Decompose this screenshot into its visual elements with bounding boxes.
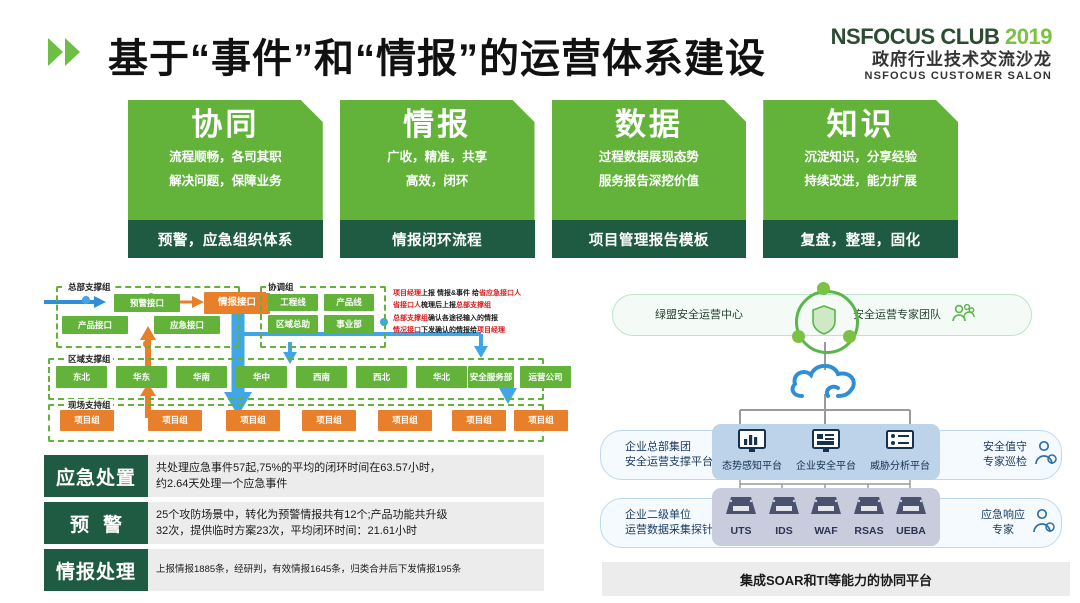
appliance-icon [852, 505, 886, 522]
platform-label: 态势感知平台 [714, 461, 790, 473]
org-box-region: 华北 [416, 366, 467, 388]
node-dot-top [817, 282, 830, 295]
annotation-red-c: 项目经理 [477, 327, 505, 334]
pillar-sub-2: 解决问题，保障业务 [128, 171, 323, 193]
pillar-sub-1: 流程顺畅，各司其职 [128, 147, 323, 169]
pillar-footer: 复盘，整理，固化 [763, 220, 958, 258]
pillar-card: 协同 流程顺畅，各司其职 解决问题，保障业务 预警，应急组织体系 [128, 100, 323, 258]
org-box-engineering-line: 工程线 [268, 294, 318, 311]
org-box-warning-interface: 预警接口 [114, 294, 180, 312]
stats-row-label: 预警 [44, 502, 148, 544]
org-box-product-line: 产品线 [324, 294, 374, 311]
org-annotation-line: 项目经理上报 情报&事件 给省应急接口人 [393, 288, 548, 300]
watch-label-line2: 专家巡检 [983, 455, 1027, 470]
response-label-line2: 专家 [981, 523, 1025, 538]
org-box-region: 华南 [176, 366, 227, 388]
nsfocus-logo: NSFOCUS CLUB 2019 政府行业技术交流沙龙 NSFOCUS CUS… [831, 26, 1052, 82]
org-box-region: 西南 [296, 366, 347, 388]
expert-team-label: 安全运营专家团队 [853, 308, 941, 323]
annotation-text-b: 梳理后上报 [421, 302, 456, 309]
pillar-heading: 协同 [128, 106, 323, 145]
watch-person-icon [1033, 440, 1057, 471]
watch-label: 安全值守 专家巡检 [983, 440, 1027, 470]
threat-analysis-icon [885, 441, 915, 458]
org-box-project-team: 项目组 [148, 410, 202, 431]
hq-platform-label-line2: 安全运营支撑平台 [625, 455, 713, 470]
stats-line: 上报情报1885条，经研判，有效情报1645条，归类合并后下发情报195条 [156, 563, 536, 577]
org-annotation-line: 省接口人梳理后上报总部支撑组 [393, 300, 548, 312]
org-annotation-line: 总部支撑组确认各途径输入的情报 [393, 313, 548, 325]
pillar-sub-1: 沉淀知识，分享经验 [763, 147, 958, 169]
cloud-icon [788, 360, 862, 407]
annotation-red-a: 总部支撑组 [393, 315, 428, 322]
hq-platform-label-line1: 企业总部集团 [625, 440, 713, 455]
stats-row-body: 25个攻防场景中，转化为预警情报共有12个;产品功能共升级 32次，提供临时方案… [148, 502, 544, 544]
hq-platform-label: 企业总部集团 安全运营支撑平台 [625, 440, 713, 470]
pillar-card-body: 情报 广收，精准，共享 高效，闭环 [340, 100, 535, 220]
stats-row: 情报处理 上报情报1885条，经研判，有效情报1645条，归类合并后下发情报19… [44, 549, 544, 591]
stats-line: 共处理应急事件57起,75%的平均的闭环时间在63.57小时， [156, 460, 536, 477]
org-box-business-unit: 事业部 [324, 315, 374, 334]
org-box-regional-assistant: 区域总助 [268, 315, 318, 334]
org-box-operations-company: 运营公司 [520, 366, 571, 388]
stats-row-label: 应急处置 [44, 455, 148, 497]
org-box-project-team: 项目组 [514, 410, 568, 431]
pillar-footer: 情报闭环流程 [340, 220, 535, 258]
architecture-footer-bar: 集成SOAR和TI等能力的协同平台 [602, 562, 1070, 596]
org-annotations: 项目经理上报 情报&事件 给省应急接口人 省接口人梳理后上报总部支撑组 总部支撑… [393, 288, 548, 338]
platform-item: 威胁分析平台 [862, 428, 938, 473]
stats-row-label: 情报处理 [44, 549, 148, 591]
device-item: UEBA [882, 494, 940, 537]
device-label: UEBA [882, 525, 940, 537]
pillar-card: 数据 过程数据展现态势 服务报告深挖价值 项目管理报告模板 [552, 100, 747, 258]
org-box-project-team: 项目组 [226, 410, 280, 431]
platform-label: 企业安全平台 [788, 461, 864, 473]
org-box-security-service-dept: 安全服务部 [468, 366, 514, 388]
hq-support-group-label: 总部支撑组 [66, 281, 113, 293]
stats-line: 约2.64天处理一个应急事件 [156, 476, 536, 493]
platform-item: 态势感知平台 [714, 428, 790, 473]
enterprise-security-icon [811, 441, 841, 458]
pillar-heading: 情报 [340, 106, 535, 145]
logo-subtitle-en: NSFOCUS CUSTOMER SALON [831, 71, 1052, 82]
annotation-red-a: 项目经理 [393, 290, 421, 297]
appliance-icon [809, 505, 843, 522]
pillar-footer: 项目管理报告模板 [552, 220, 747, 258]
platform-label: 威胁分析平台 [862, 461, 938, 473]
region-support-group-label: 区域支撑组 [66, 353, 113, 365]
architecture-diagram: 绿盟安全运营中心 安全运营专家团队 [590, 282, 1070, 552]
node-dot-left [792, 330, 805, 343]
double-chevron-icon [48, 38, 80, 66]
shield-icon [811, 305, 837, 335]
expert-team-icon [951, 303, 975, 328]
org-box-emergency-interface: 应急接口 [154, 316, 220, 334]
pillar-heading: 知识 [763, 106, 958, 145]
branch-label: 企业二级单位 运营数据采集探针 [625, 508, 713, 538]
logo-year-text: 2019 [1005, 24, 1052, 49]
pillar-sub-2: 持续改进，能力扩展 [763, 171, 958, 193]
pillar-card-body: 数据 过程数据展现态势 服务报告深挖价值 [552, 100, 747, 220]
appliance-icon [724, 505, 758, 522]
pillar-card-body: 知识 沉淀知识，分享经验 持续改进，能力扩展 [763, 100, 958, 220]
annotation-red-c: 省应急接口人 [479, 290, 521, 297]
appliance-icon [767, 505, 801, 522]
stats-table: 应急处置 共处理应急事件57起,75%的平均的闭环时间在63.57小时， 约2.… [44, 455, 544, 596]
org-box-region: 华中 [236, 366, 287, 388]
response-label: 应急响应 专家 [981, 508, 1025, 538]
annotation-text-b: 上报 情报&事件 给 [421, 290, 479, 297]
org-box-project-team: 项目组 [60, 410, 114, 431]
stats-row-body: 上报情报1885条，经研判，有效情报1645条，归类合并后下发情报195条 [148, 549, 544, 591]
org-box-region: 西北 [356, 366, 407, 388]
pillar-sub-2: 高效，闭环 [340, 171, 535, 193]
stats-row: 预警 25个攻防场景中，转化为预警情报共有12个;产品功能共升级 32次，提供临… [44, 502, 544, 544]
pillar-footer: 预警，应急组织体系 [128, 220, 323, 258]
stats-row-body: 共处理应急事件57起,75%的平均的闭环时间在63.57小时， 约2.64天处理… [148, 455, 544, 497]
org-box-project-team: 项目组 [302, 410, 356, 431]
pillar-card: 知识 沉淀知识，分享经验 持续改进，能力扩展 复盘，整理，固化 [763, 100, 958, 258]
node-dot-right [843, 330, 856, 343]
coordination-group-label: 协调组 [266, 281, 296, 293]
stats-line: 25个攻防场景中，转化为预警情报共有12个;产品功能共升级 [156, 507, 536, 524]
pillar-sub-1: 过程数据展现态势 [552, 147, 747, 169]
situational-awareness-icon [737, 441, 767, 458]
branch-label-line1: 企业二级单位 [625, 508, 713, 523]
annotation-text-b: 下发确认的情报给 [421, 327, 477, 334]
stats-row: 应急处置 共处理应急事件57起,75%的平均的闭环时间在63.57小时， 约2.… [44, 455, 544, 497]
security-shield-node [786, 282, 864, 360]
org-annotation-line: 情况接口下发确认的情报给项目经理 [393, 325, 548, 337]
annotation-red-a: 情况接口 [393, 327, 421, 334]
page-title: 基于“事件”和“情报”的运营体系建设 [108, 26, 766, 84]
response-person-icon [1031, 508, 1055, 539]
platform-item: 企业安全平台 [788, 428, 864, 473]
slide-root: 基于“事件”和“情报”的运营体系建设 NSFOCUS CLUB 2019 政府行… [0, 0, 1080, 603]
org-box-region: 华东 [116, 366, 167, 388]
annotation-red-a: 省接口人 [393, 302, 421, 309]
pillar-card: 情报 广收，精准，共享 高效，闭环 情报闭环流程 [340, 100, 535, 258]
org-box-project-team: 项目组 [378, 410, 432, 431]
soc-label: 绿盟安全运营中心 [655, 308, 743, 323]
watch-label-line1: 安全值守 [983, 440, 1027, 455]
appliance-icon [894, 505, 928, 522]
logo-subtitle-cn: 政府行业技术交流沙龙 [831, 51, 1052, 68]
slide-header: 基于“事件”和“情报”的运营体系建设 NSFOCUS CLUB 2019 政府行… [0, 0, 1080, 92]
org-box-project-team: 项目组 [452, 410, 506, 431]
pillar-sub-2: 服务报告深挖价值 [552, 171, 747, 193]
pillar-sub-1: 广收，精准，共享 [340, 147, 535, 169]
stats-line: 32次，提供临时方案23次，平均闭环时间：21.61小时 [156, 523, 536, 540]
org-box-product-interface: 产品接口 [62, 316, 128, 334]
org-structure-diagram: 总部支撑组 预警接口 产品接口 应急接口 情报接口 协调组 工程线 产品线 区域… [44, 282, 544, 442]
branch-label-line2: 运营数据采集探针 [625, 523, 713, 538]
pillar-heading: 数据 [552, 106, 747, 145]
annotation-text-b: 确认各途径输入的情报 [428, 315, 498, 322]
annotation-red-c: 总部支撑组 [456, 302, 491, 309]
org-box-region: 东北 [56, 366, 107, 388]
response-label-line1: 应急响应 [981, 508, 1025, 523]
pillar-card-body: 协同 流程顺畅，各司其职 解决问题，保障业务 [128, 100, 323, 220]
logo-club-text: NSFOCUS CLUB [831, 24, 1000, 49]
pillar-cards: 协同 流程顺畅，各司其职 解决问题，保障业务 预警，应急组织体系 情报 广收，精… [128, 100, 958, 258]
